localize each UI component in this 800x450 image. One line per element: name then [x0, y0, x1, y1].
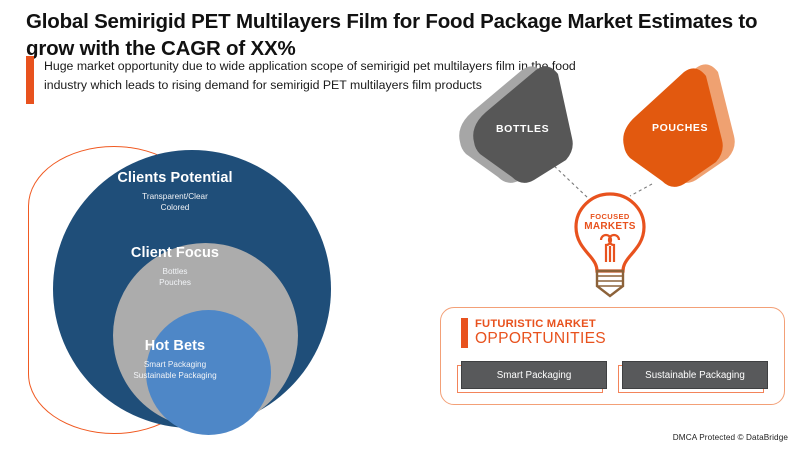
panel-accent-bar — [461, 318, 468, 348]
connector-bottles-to-bulb — [550, 162, 588, 198]
bulb-base-icon — [597, 271, 623, 296]
futuristic-market-opportunities-panel: FUTURISTIC MARKET OPPORTUNITIES Smart Pa… — [440, 307, 785, 405]
venn-label-hot-bets: Hot Bets Smart Packaging Sustainable Pac… — [20, 338, 330, 381]
panel-heading: FUTURISTIC MARKET OPPORTUNITIES — [461, 318, 606, 348]
sustainable-packaging-button-wrap: Sustainable Packaging — [622, 361, 768, 389]
venn-diagram: Clients Potential Transparent/Clear Colo… — [20, 140, 330, 445]
venn-label-client-focus: Client Focus Bottles Pouches — [20, 245, 330, 288]
venn-items-hot-bets: Smart Packaging Sustainable Packaging — [20, 359, 330, 381]
panel-heading-line1: FUTURISTIC MARKET — [475, 318, 606, 330]
connector-pouches-to-bulb — [630, 184, 652, 196]
bulb-label-focused: FOCUSED — [570, 213, 650, 221]
venn-title-hot-bets: Hot Bets — [20, 338, 330, 354]
footer-copyright: DMCA Protected © DataBridge — [673, 433, 788, 442]
venn-items-clients-potential: Transparent/Clear Colored — [20, 191, 330, 213]
venn-title-clients-potential: Clients Potential — [20, 170, 330, 186]
smart-packaging-button-wrap: Smart Packaging — [461, 361, 607, 389]
pouches-label: POUCHES — [652, 122, 708, 134]
bulb-label: FOCUSED MARKETS — [570, 213, 650, 232]
bulb-label-markets: MARKETS — [570, 221, 650, 232]
venn-items-client-focus: Bottles Pouches — [20, 266, 330, 288]
bottles-label: BOTTLES — [496, 123, 549, 135]
smart-packaging-button[interactable]: Smart Packaging — [461, 361, 607, 389]
focused-markets-diagram: BOTTLES POUCHES FOCUSED MARKETS — [440, 50, 800, 300]
venn-title-client-focus: Client Focus — [20, 245, 330, 261]
venn-label-clients-potential: Clients Potential Transparent/Clear Colo… — [20, 170, 330, 213]
panel-button-group: Smart Packaging Sustainable Packaging — [461, 361, 768, 389]
sustainable-packaging-button[interactable]: Sustainable Packaging — [622, 361, 768, 389]
panel-heading-line2: OPPORTUNITIES — [475, 331, 606, 347]
orange-accent-bar — [26, 56, 34, 104]
